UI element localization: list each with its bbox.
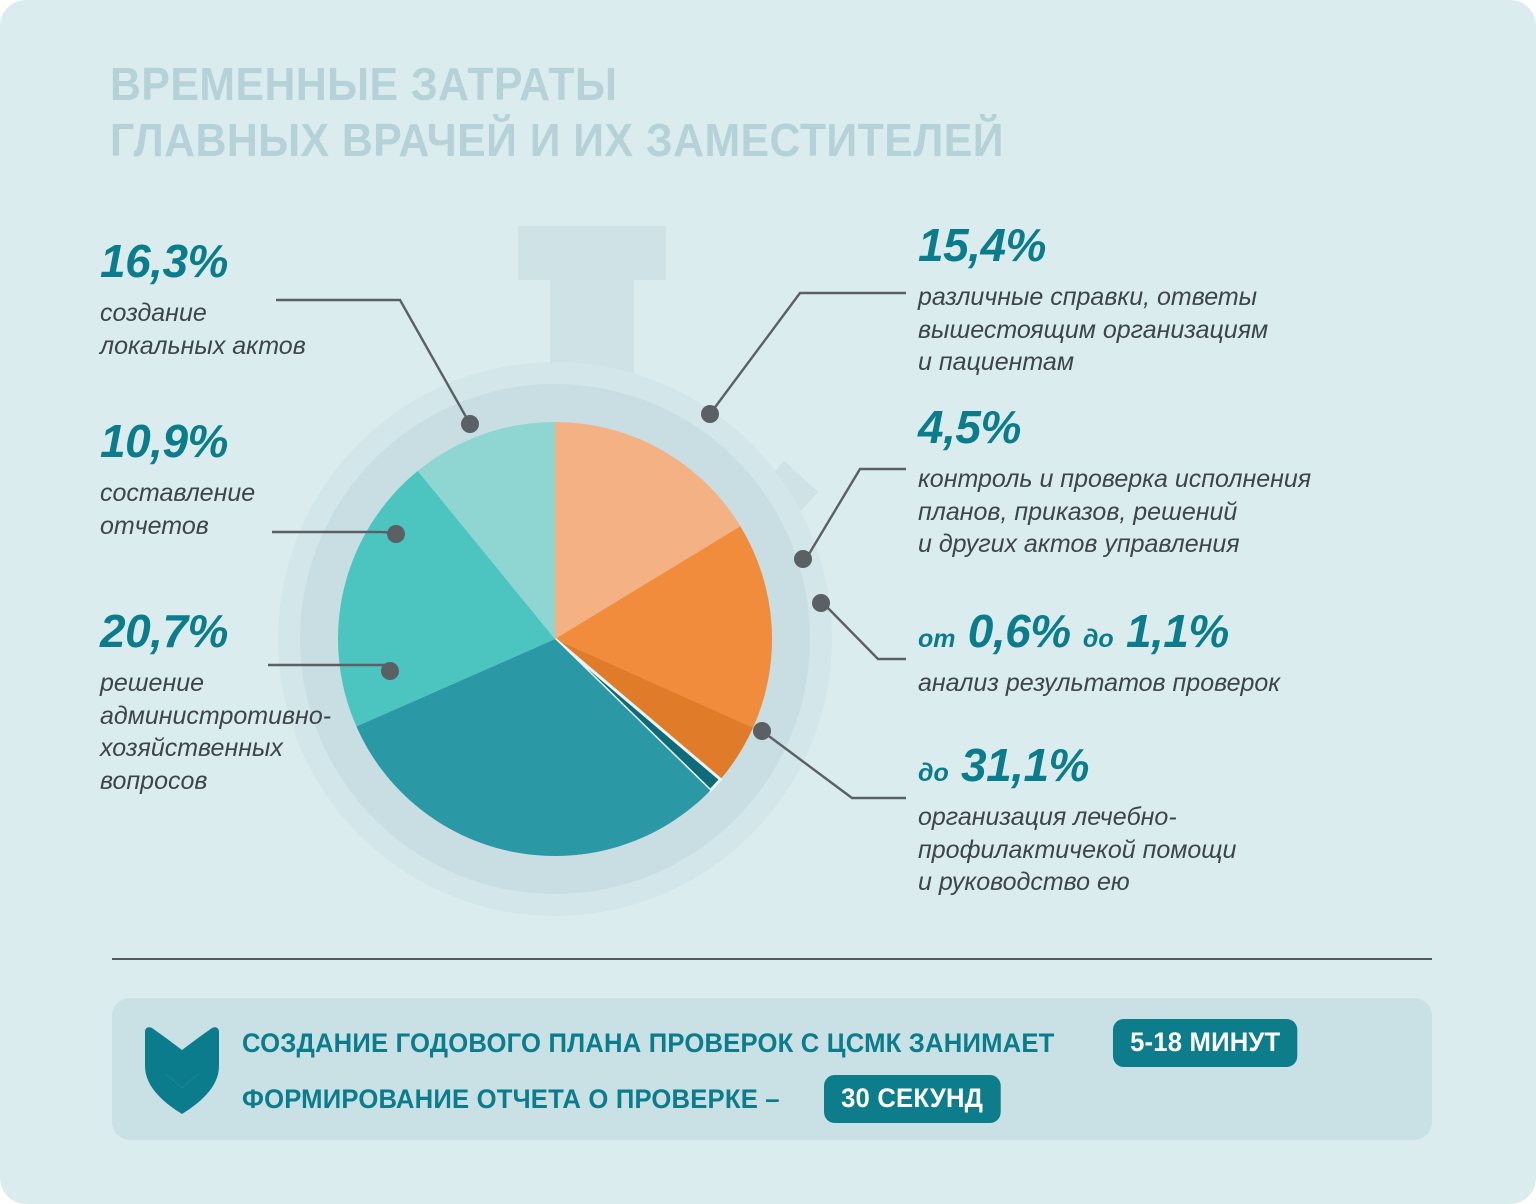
- banner-rows: СОЗДАНИЕ ГОДОВОГО ПЛАНА ПРОВЕРОК С ЦСМК …: [242, 1017, 1416, 1129]
- callout-admin-value: 20,7%: [100, 608, 440, 654]
- callout-analysis-value-to: 1,1%: [1126, 605, 1229, 657]
- callout-analysis-prefix-to: до: [1083, 625, 1114, 653]
- callout-admin: 20,7% решение администротивно- хозяйстве…: [100, 608, 440, 797]
- footer-banner: СОЗДАНИЕ ГОДОВОГО ПЛАНА ПРОВЕРОК С ЦСМК …: [112, 998, 1432, 1140]
- callout-analysis: от 0,6% до 1,1% анализ результатов прове…: [918, 608, 1498, 700]
- callout-local-acts-desc: создание локальных актов: [100, 297, 430, 362]
- callout-organization-value: до 31,1%: [918, 742, 1498, 788]
- callout-analysis-prefix-from: от: [918, 625, 956, 653]
- callout-organization: до 31,1% организация лечебно- профилакти…: [918, 742, 1498, 899]
- infographic-canvas: ВРЕМЕННЫЕ ЗАТРАТЫ ГЛАВНЫХ ВРАЧЕЙ И ИХ ЗА…: [0, 0, 1536, 1204]
- callout-organization-value-number: 31,1%: [961, 739, 1089, 791]
- banner-row-report-text: ФОРМИРОВАНИЕ ОТЧЕТА О ПРОВЕРКЕ –: [242, 1084, 780, 1115]
- callout-analysis-value-from: 0,6%: [968, 605, 1071, 657]
- callout-reports-desc: составление отчетов: [100, 477, 430, 542]
- banner-row-plan-badge: 5-18 МИНУТ: [1113, 1019, 1298, 1067]
- callout-organization-desc: организация лечебно- профилактичекой пом…: [918, 801, 1498, 899]
- banner-row-plan: СОЗДАНИЕ ГОДОВОГО ПЛАНА ПРОВЕРОК С ЦСМК …: [242, 1017, 1416, 1069]
- callout-analysis-desc: анализ результатов проверок: [918, 667, 1498, 700]
- page-title: ВРЕМЕННЫЕ ЗАТРАТЫ ГЛАВНЫХ ВРАЧЕЙ И ИХ ЗА…: [110, 56, 1226, 168]
- callout-certificates: 15,4% различные справки, ответы вышестоя…: [918, 222, 1478, 379]
- banner-row-report-badge: 30 СЕКУНД: [824, 1075, 1000, 1123]
- shield-check-icon: [142, 1022, 222, 1116]
- callout-local-acts: 16,3% создание локальных актов: [100, 238, 430, 362]
- callout-reports: 10,9% составление отчетов: [100, 418, 430, 542]
- callout-certificates-desc: различные справки, ответы вышестоящим ор…: [918, 281, 1478, 379]
- callout-control: 4,5% контроль и проверка исполнения план…: [918, 404, 1498, 561]
- callout-reports-value: 10,9%: [100, 418, 430, 464]
- callout-control-desc: контроль и проверка исполнения планов, п…: [918, 463, 1498, 561]
- section-divider: [112, 958, 1432, 960]
- callout-admin-desc: решение администротивно- хозяйственных в…: [100, 667, 440, 797]
- callout-analysis-value: от 0,6% до 1,1%: [918, 608, 1498, 654]
- callout-certificates-value: 15,4%: [918, 222, 1478, 268]
- callout-control-value: 4,5%: [918, 404, 1498, 450]
- banner-row-report: ФОРМИРОВАНИЕ ОТЧЕТА О ПРОВЕРКЕ – 30 СЕКУ…: [242, 1073, 1416, 1125]
- callout-local-acts-value: 16,3%: [100, 238, 430, 284]
- banner-row-plan-text: СОЗДАНИЕ ГОДОВОГО ПЛАНА ПРОВЕРОК С ЦСМК …: [242, 1028, 1055, 1059]
- callout-organization-prefix: до: [918, 759, 949, 787]
- stopwatch-crown-top: [518, 226, 666, 280]
